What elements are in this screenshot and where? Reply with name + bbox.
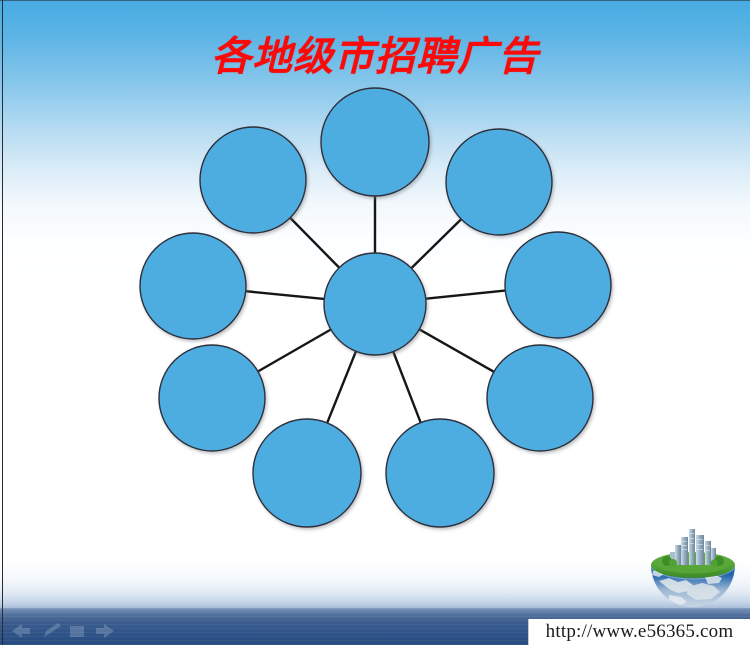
spoke-line-6 — [327, 350, 357, 423]
node-circle-6[interactable] — [253, 419, 361, 527]
node-circle-4[interactable] — [487, 345, 593, 451]
radial-diagram-svg — [0, 0, 750, 645]
node-shape[interactable] — [159, 345, 265, 451]
city-skyline — [670, 529, 716, 565]
spoke-line-4 — [418, 329, 494, 373]
node-shape[interactable] — [253, 419, 361, 527]
spoke-line-3 — [425, 290, 507, 298]
node-shape[interactable] — [487, 345, 593, 451]
spoke-line-9 — [290, 217, 340, 268]
node-shape[interactable] — [321, 88, 429, 196]
node-circle-2[interactable] — [446, 129, 552, 235]
node-shape[interactable] — [200, 127, 306, 233]
node-circle-3[interactable] — [505, 232, 611, 338]
node-circle-8[interactable] — [140, 233, 246, 339]
node-shape[interactable] — [446, 129, 552, 235]
node-shape[interactable] — [386, 419, 494, 527]
node-circle-1[interactable] — [321, 88, 429, 196]
node-shape[interactable] — [140, 233, 246, 339]
hub-node-group — [324, 253, 426, 355]
spoke-line-5 — [393, 351, 421, 424]
spoke-line-7 — [257, 329, 332, 372]
hub-circle[interactable] — [324, 253, 426, 355]
node-circle-9[interactable] — [200, 127, 306, 233]
radial-diagram — [0, 0, 750, 645]
spoke-line-2 — [411, 219, 462, 269]
node-circle-5[interactable] — [386, 419, 494, 527]
spoke-line-8 — [245, 291, 326, 299]
node-circle-7[interactable] — [159, 345, 265, 451]
site-watermark: http://www.e56365.com — [528, 619, 750, 645]
node-shape[interactable] — [505, 232, 611, 338]
slide-canvas: 各地级市招聘广告 — [0, 0, 750, 645]
earth-city-globe-icon — [643, 521, 743, 614]
